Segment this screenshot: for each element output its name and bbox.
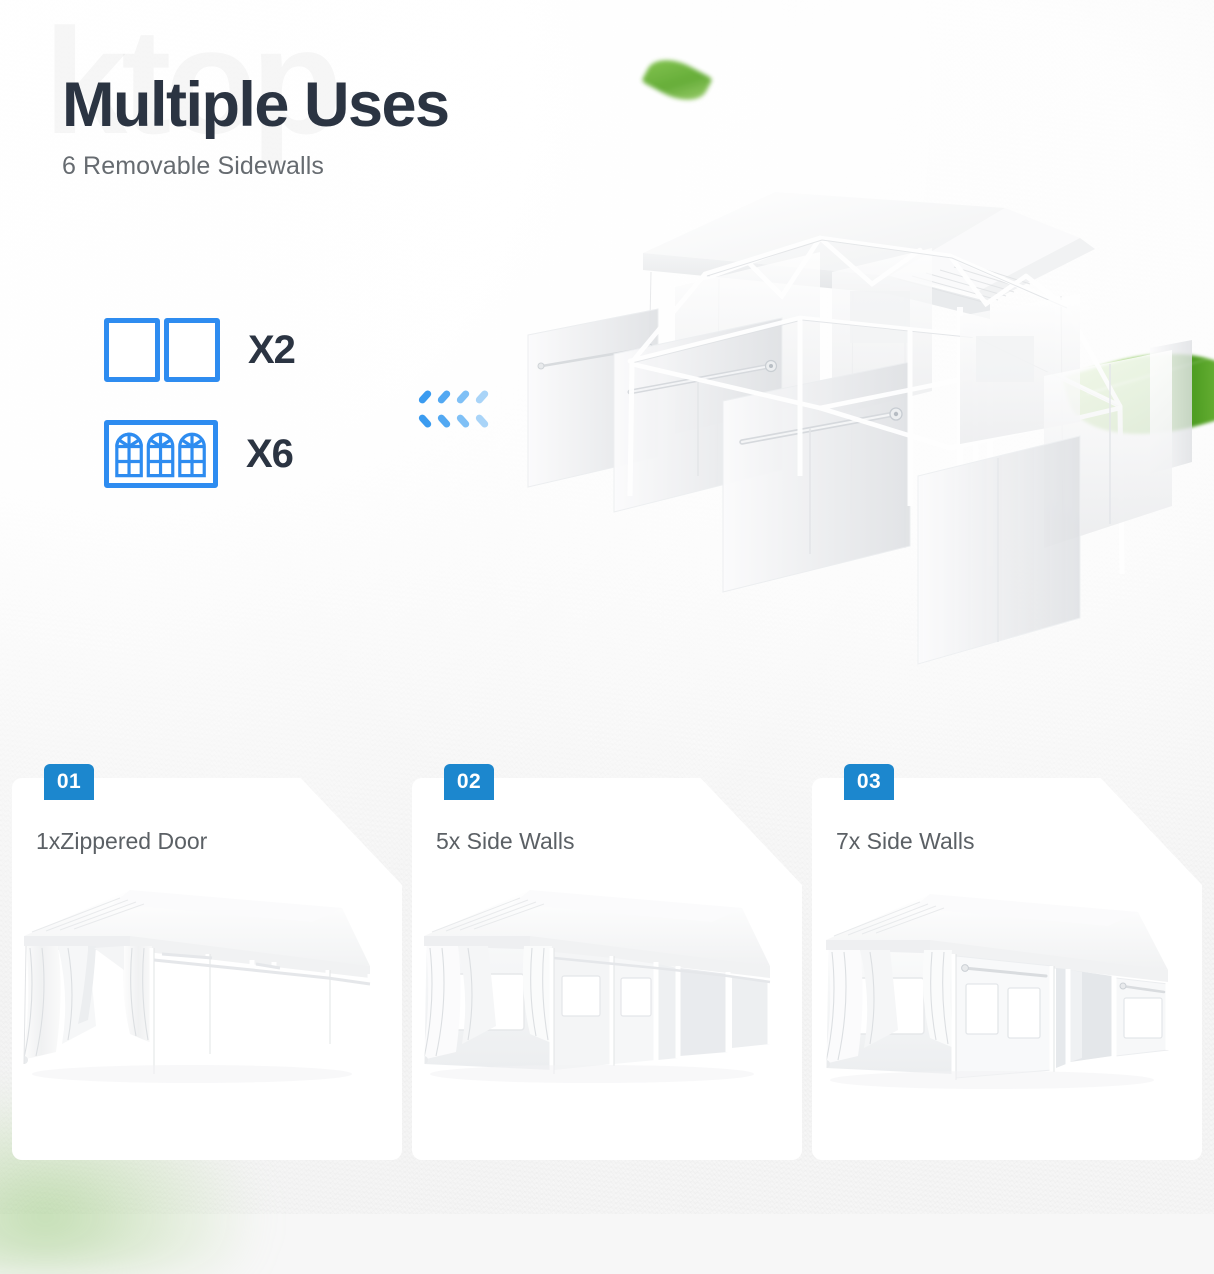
card-title: 7x Side Walls — [836, 828, 974, 855]
card-wrap-02: 02 5x Side Walls — [412, 778, 802, 1178]
card-row: 01 1xZippered Door — [0, 778, 1214, 1178]
sidewall-panel-front-right-large — [918, 436, 1080, 664]
spec-count-label: X2 — [248, 328, 295, 373]
arched-windows-icon — [114, 427, 208, 481]
chevron-arrow-group — [418, 392, 494, 426]
card-photo-canopy-with-seven-side-walls — [812, 874, 1202, 1160]
card-wrap-03: 03 7x Side Walls — [812, 778, 1202, 1178]
chevron-left-icon — [437, 392, 456, 426]
plain-sidewall-panel-icon — [104, 318, 220, 382]
spec-row-window-panels: X6 — [104, 420, 295, 488]
chevron-left-icon — [475, 392, 494, 426]
card-badge: 03 — [844, 764, 894, 800]
header: Multiple Uses 6 Removable Sidewalls — [62, 72, 449, 181]
window-sidewall-panel-icon — [104, 420, 218, 488]
card-five-side-walls[interactable]: 5x Side Walls — [412, 778, 802, 1160]
card-zippered-door[interactable]: 1xZippered Door — [12, 778, 402, 1160]
card-badge: 02 — [444, 764, 494, 800]
page-title: Multiple Uses — [62, 72, 449, 138]
exploded-frame-assembly — [528, 238, 1192, 664]
plain-panel-shape — [104, 318, 160, 382]
hero-illustration — [520, 176, 1200, 706]
card-wrap-01: 01 1xZippered Door — [12, 778, 402, 1178]
card-photo-canopy-with-five-side-walls — [412, 874, 802, 1160]
chevron-left-icon — [418, 392, 437, 426]
spec-count-label: X6 — [246, 432, 293, 477]
spec-row-plain-panels: X2 — [104, 318, 295, 382]
card-seven-side-walls[interactable]: 7x Side Walls — [812, 778, 1202, 1160]
card-title: 1xZippered Door — [36, 828, 207, 855]
zippered-door-curtains — [20, 946, 154, 1064]
card-title: 5x Side Walls — [436, 828, 574, 855]
chevron-left-icon — [456, 392, 475, 426]
spec-list: X2 — [104, 318, 295, 526]
card-badge: 01 — [44, 764, 94, 800]
plain-panel-shape — [164, 318, 220, 382]
page-subtitle: 6 Removable Sidewalls — [62, 152, 449, 181]
card-photo-canopy-with-zippered-door — [12, 874, 402, 1160]
